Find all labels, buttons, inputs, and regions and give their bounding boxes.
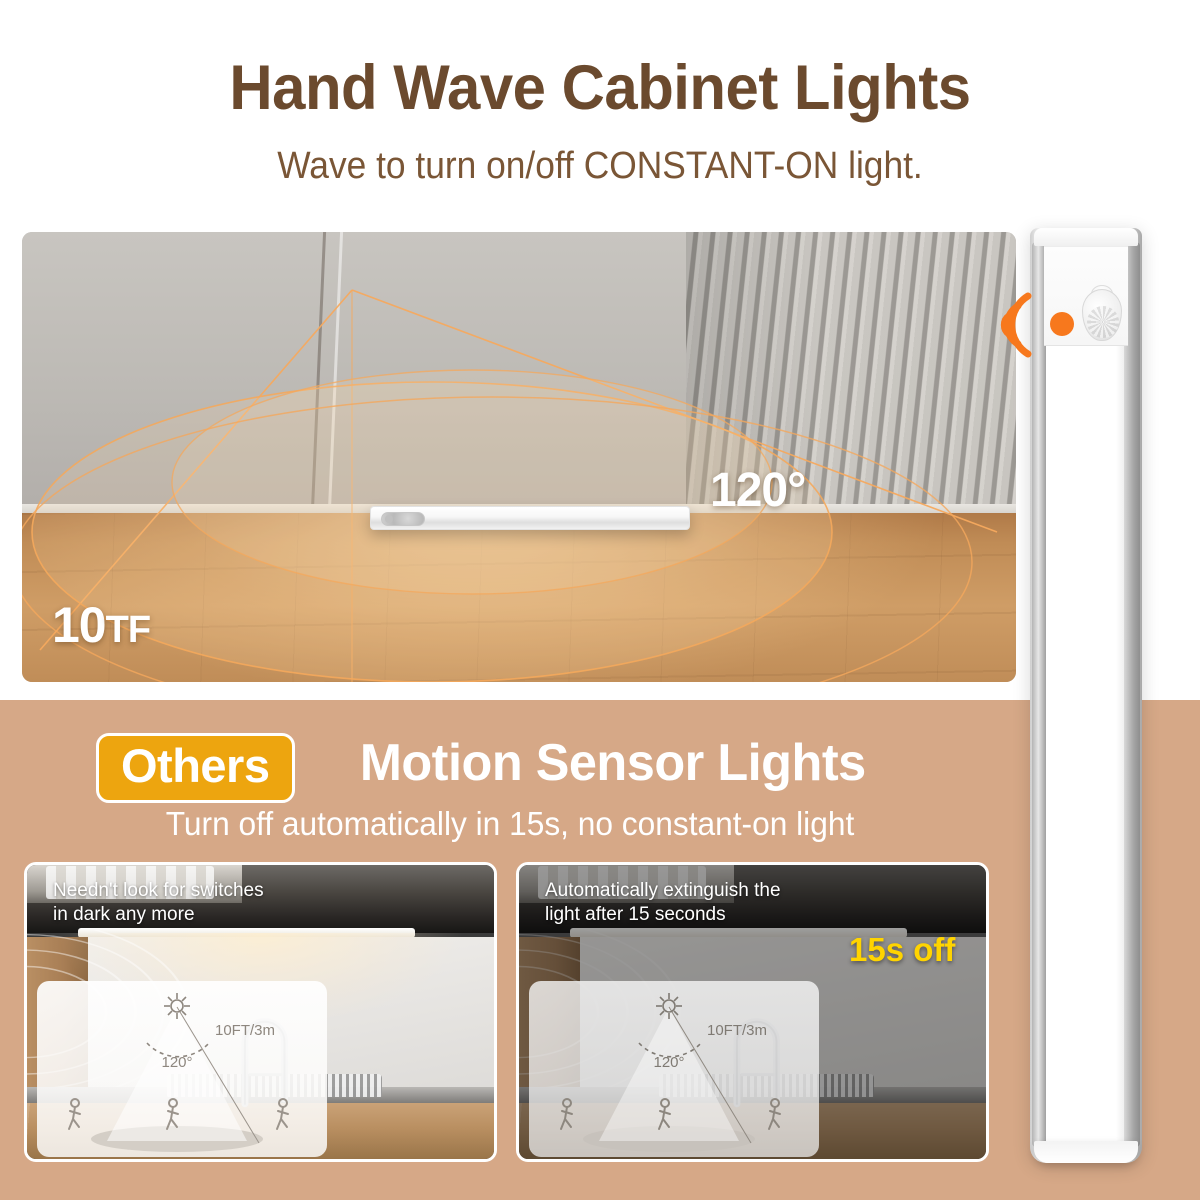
detection-cone-overlay [22,232,1016,682]
distance-unit: TF [106,609,150,651]
page-subtitle: Wave to turn on/off CONSTANT-ON light. [42,145,1158,188]
product-rail-right [1124,242,1140,1147]
coverage-diagram-graphic: 120° 10FT/3m [529,981,819,1157]
diagram-angle-label: 120° [653,1054,684,1071]
diagram-angle-label: 120° [161,1054,192,1071]
distance-label: 10TF [52,596,150,654]
hero-image [22,232,1016,682]
signal-origin-dot [1050,312,1074,336]
distance-value: 10 [52,597,106,653]
product-end-cap-bottom [1034,1141,1138,1163]
diagram-range-label: 10FT/3m [707,1022,767,1039]
panel-light-off: Automatically extinguish the light after… [516,862,989,1162]
caption-line-1: Automatically extinguish the [545,879,781,903]
sensor-dot-icon [385,515,393,523]
caption-line-2: in dark any more [53,903,264,927]
band-title: Motion Sensor Lights [360,733,866,793]
caption-line-2: light after 15 seconds [545,903,781,927]
others-badge: Others [96,733,295,803]
caption-line-1: Needn't look for switches [53,879,264,903]
panel-caption: Needn't look for switches in dark any mo… [53,879,264,928]
coverage-diagram: 120° 10FT/3m [37,981,327,1157]
coverage-diagram: 120° 10FT/3m [529,981,819,1157]
product-end-cap-top [1034,228,1138,246]
page-title: Hand Wave Cabinet Lights [30,52,1170,124]
coverage-diagram-graphic: 120° 10FT/3m [37,981,327,1157]
product-infographic: Hand Wave Cabinet Lights Wave to turn on… [0,0,1200,1200]
diagram-range-label: 10FT/3m [215,1022,275,1039]
led-light-bar-hero [370,506,690,530]
panel-light-on: Needn't look for switches in dark any mo… [24,862,497,1162]
panel-caption: Automatically extinguish the light after… [545,879,781,928]
angle-label: 120° [710,463,805,518]
timeout-badge: 15s off [849,931,955,969]
pir-dome-icon [1082,289,1122,341]
product-light-bar-vertical [1030,228,1142,1163]
band-subtitle: Turn off automatically in 15s, no consta… [20,805,999,843]
